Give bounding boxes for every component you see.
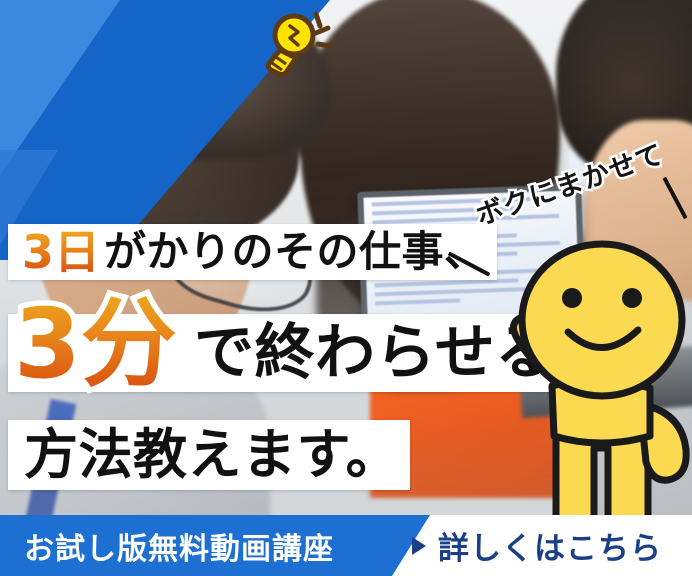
details-link-label: 詳しくはこちら <box>438 523 662 568</box>
play-triangle-icon <box>412 537 426 555</box>
bottom-cta-bar: お試し版無料動画講座 詳しくはこちら <box>0 515 692 576</box>
details-link[interactable]: 詳しくはこちら <box>412 515 662 576</box>
free-trial-tag[interactable]: お試し版無料動画講座 <box>0 515 430 576</box>
free-trial-tag-label: お試し版無料動画講座 <box>24 524 334 568</box>
lightbulb-icon <box>258 2 338 82</box>
promo-banner: ボクにまかせて 3日 がかりのその仕事、 で終わらせる 3分 <box>0 0 692 576</box>
yellow-smiley-mascot <box>490 236 692 526</box>
